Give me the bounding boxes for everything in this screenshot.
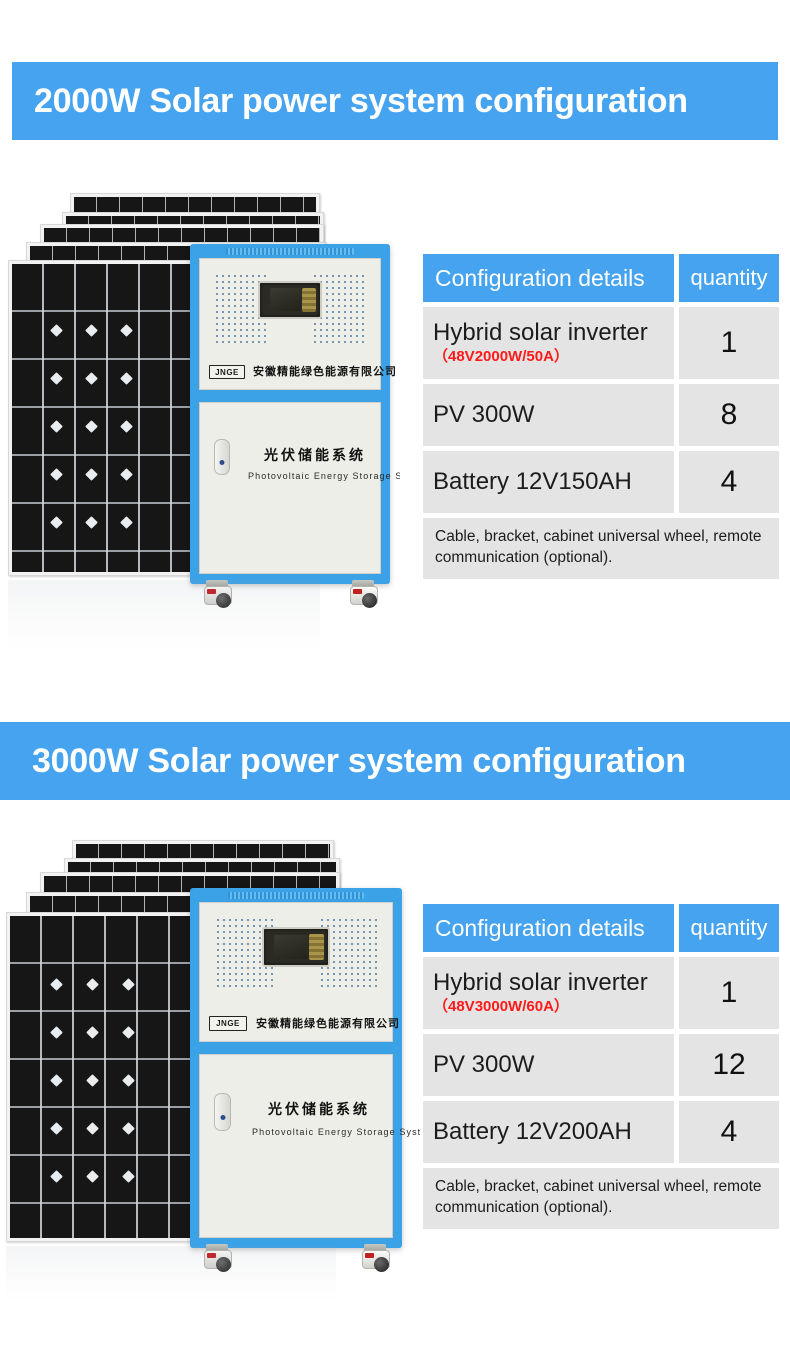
system-name-en: Photovoltaic Energy Storage System — [248, 471, 400, 481]
table-footer-note: Cable, bracket, cabinet universal wheel,… — [423, 1168, 779, 1229]
section-2-product-image: JNGE 安徽精能绿色能源有限公司 光伏储能系统 Photovoltaic En… — [0, 830, 420, 1300]
row-detail-cell: PV 300W — [423, 1034, 674, 1096]
table-row: Battery 12V150AH 4 — [423, 451, 779, 513]
brand-logo-text: JNGE — [216, 1019, 240, 1028]
brand-logo: JNGE — [209, 1016, 247, 1031]
section-2-spec-table: Configuration details quantity Hybrid so… — [423, 904, 779, 1229]
cabinet-door-handle[interactable] — [214, 439, 230, 475]
cabinet-door-handle[interactable] — [214, 1093, 231, 1131]
section-1-spec-table: Configuration details quantity Hybrid so… — [423, 254, 779, 579]
cabinet-caster-left — [204, 580, 230, 610]
table-footer-note: Cable, bracket, cabinet universal wheel,… — [423, 518, 779, 579]
inverter-display — [258, 281, 322, 319]
header-cell-details: Configuration details — [423, 904, 674, 952]
company-name-cn: 安徽精能绿色能源有限公司 — [253, 363, 397, 379]
item-name: PV 300W — [433, 1052, 664, 1077]
item-name: Hybrid solar inverter — [433, 320, 664, 345]
item-spec: （48V2000W/50A） — [433, 348, 664, 366]
header-cell-quantity: quantity — [679, 904, 779, 952]
system-name-en: Photovoltaic Energy Storage System — [252, 1127, 420, 1137]
cabinet-divider — [199, 392, 381, 400]
company-name-cn: 安徽精能绿色能源有限公司 — [256, 1015, 400, 1031]
cabinet-caster-left — [204, 1244, 230, 1274]
cabinet-divider — [199, 1044, 393, 1052]
table-row: PV 300W 8 — [423, 384, 779, 446]
cabinet-lower-door: 光伏储能系统 Photovoltaic Energy Storage Syste… — [199, 1054, 393, 1238]
section-2-banner-title: 3000W Solar power system configuration — [32, 742, 686, 781]
row-qty-cell: 1 — [679, 307, 779, 379]
system-name-cn: 光伏储能系统 — [268, 1099, 370, 1119]
cabinet-upper-door: JNGE 安徽精能绿色能源有限公司 — [199, 258, 381, 390]
product-spec-page: 2000W Solar power system configuration — [0, 0, 790, 1350]
item-name: Battery 12V150AH — [433, 469, 664, 494]
item-name: PV 300W — [433, 402, 664, 427]
item-name: Hybrid solar inverter — [433, 970, 664, 995]
row-qty-cell: 4 — [679, 1101, 779, 1163]
row-detail-cell: PV 300W — [423, 384, 674, 446]
table-row: Hybrid solar inverter （48V3000W/60A） 1 — [423, 957, 779, 1029]
row-qty-cell: 8 — [679, 384, 779, 446]
section-2-banner: 3000W Solar power system configuration — [0, 722, 790, 800]
system-name-cn: 光伏储能系统 — [264, 445, 366, 465]
cabinet-caster-right — [350, 580, 376, 610]
row-qty-cell: 1 — [679, 957, 779, 1029]
energy-storage-cabinet: JNGE 安徽精能绿色能源有限公司 光伏储能系统 Photovoltaic En… — [190, 888, 402, 1248]
product-reflection — [8, 580, 320, 650]
header-cell-quantity: quantity — [679, 254, 779, 302]
brand-logo: JNGE — [209, 365, 245, 379]
table-row: PV 300W 12 — [423, 1034, 779, 1096]
energy-storage-cabinet: JNGE 安徽精能绿色能源有限公司 光伏储能系统 Photovoltaic En… — [190, 244, 390, 584]
cabinet-top-vent — [226, 248, 354, 255]
section-1-banner: 2000W Solar power system configuration — [12, 62, 778, 140]
table-row: Battery 12V200AH 4 — [423, 1101, 779, 1163]
row-detail-cell: Battery 12V200AH — [423, 1101, 674, 1163]
table-header-row: Configuration details quantity — [423, 904, 779, 952]
row-detail-cell: Battery 12V150AH — [423, 451, 674, 513]
section-1-product-image: JNGE 安徽精能绿色能源有限公司 光伏储能系统 Photovoltaic En… — [0, 180, 400, 650]
item-spec: （48V3000W/60A） — [433, 998, 664, 1016]
row-qty-cell: 12 — [679, 1034, 779, 1096]
header-cell-details: Configuration details — [423, 254, 674, 302]
product-reflection — [6, 1246, 336, 1300]
row-detail-cell: Hybrid solar inverter （48V3000W/60A） — [423, 957, 674, 1029]
cabinet-upper-door: JNGE 安徽精能绿色能源有限公司 — [199, 902, 393, 1042]
brand-logo-text: JNGE — [215, 368, 239, 377]
item-name: Battery 12V200AH — [433, 1119, 664, 1144]
section-1-banner-title: 2000W Solar power system configuration — [34, 82, 688, 121]
table-header-row: Configuration details quantity — [423, 254, 779, 302]
cabinet-top-vent — [228, 892, 364, 899]
cabinet-caster-right — [362, 1244, 388, 1274]
cabinet-lower-door: 光伏储能系统 Photovoltaic Energy Storage Syste… — [199, 402, 381, 574]
table-row: Hybrid solar inverter （48V2000W/50A） 1 — [423, 307, 779, 379]
row-qty-cell: 4 — [679, 451, 779, 513]
inverter-display — [262, 927, 330, 967]
row-detail-cell: Hybrid solar inverter （48V2000W/50A） — [423, 307, 674, 379]
